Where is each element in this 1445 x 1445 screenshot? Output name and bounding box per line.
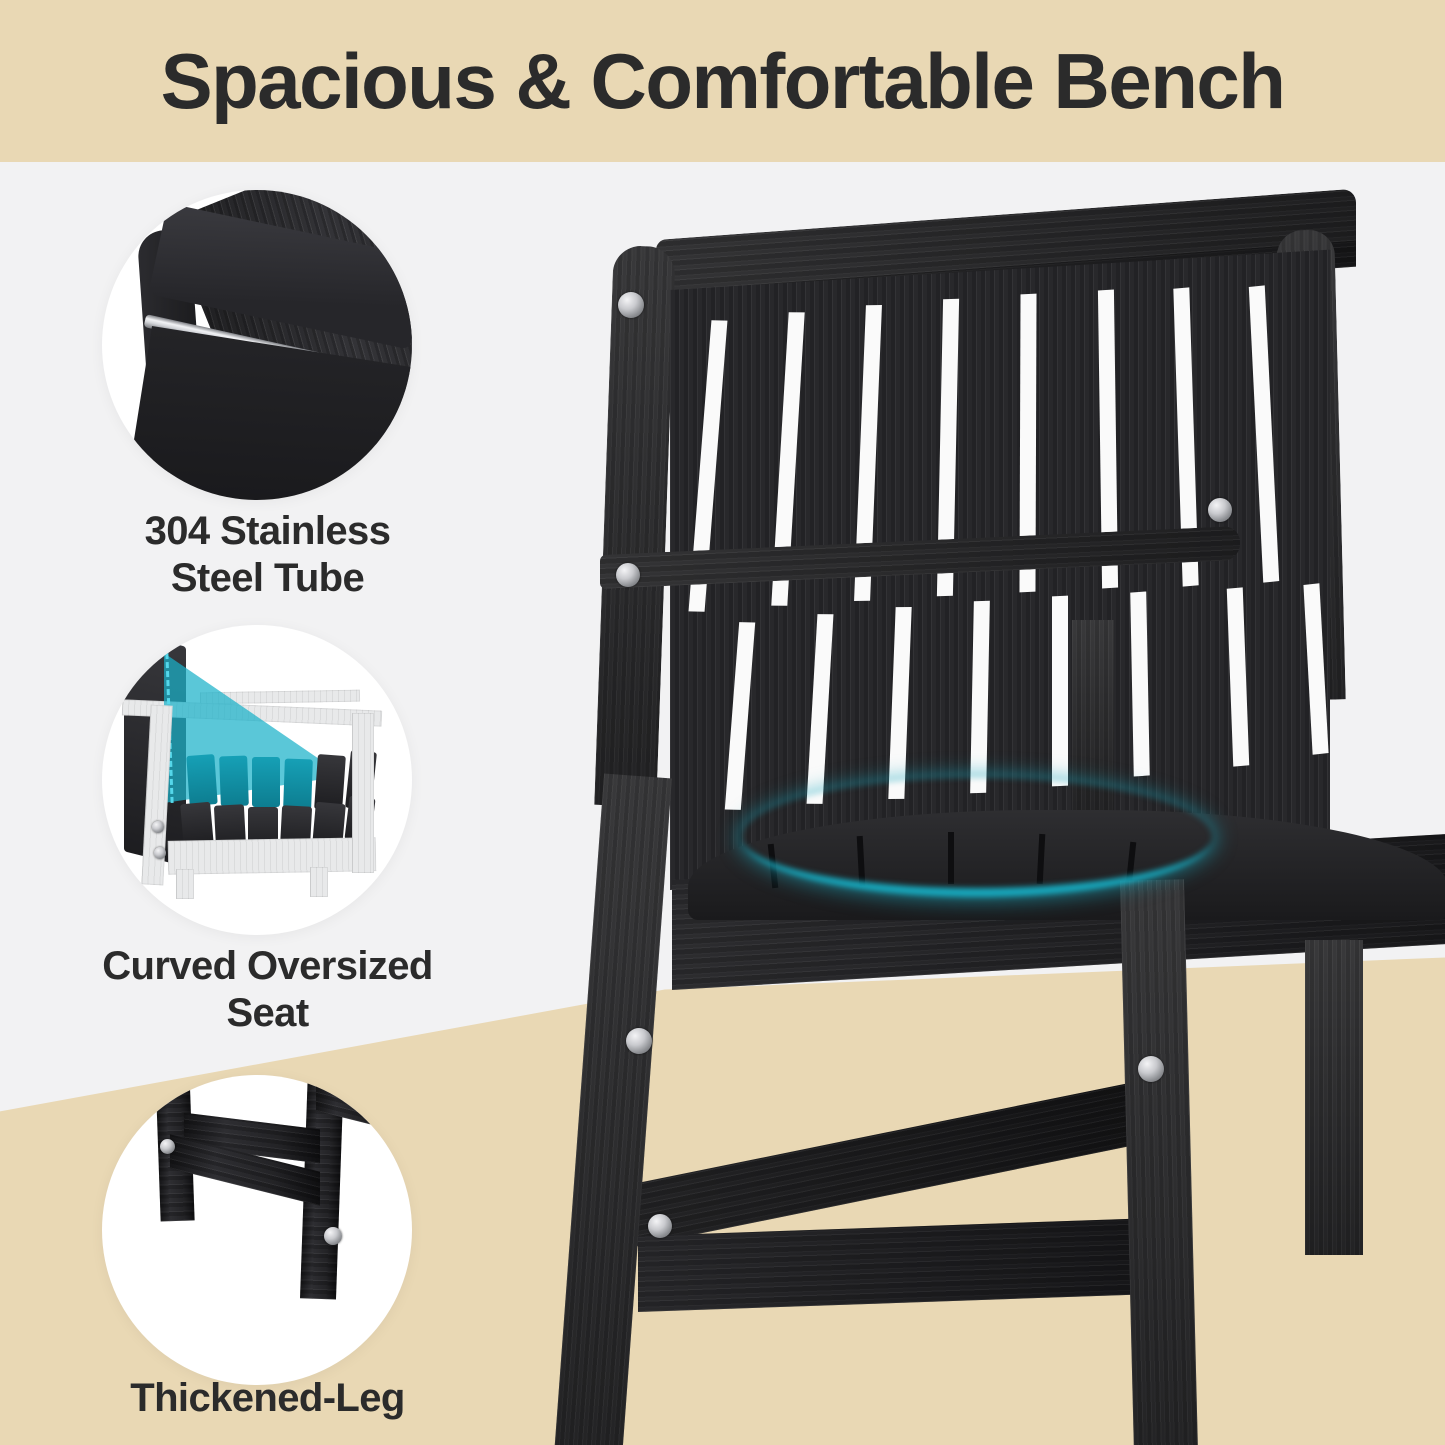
seat-diagram-teal-slat-3 [252, 757, 280, 807]
seat-diagram-front-apron [168, 837, 377, 875]
callout-label-line2: Seat [75, 990, 460, 1037]
callout-label-line1: Curved Oversized [75, 943, 460, 990]
screw-rear-leg-center [1138, 1056, 1164, 1082]
seat-diagram-teal-slat-2 [219, 756, 249, 807]
callout-image-thickened-leg [102, 1075, 412, 1385]
screw-seat-diagram-left-2 [154, 847, 166, 859]
screw-arm-rail-left [616, 563, 640, 587]
product-feature-image: Spacious & Comfortable Bench 304 Stainle… [0, 0, 1445, 1445]
seat-diagram-teal-slat-4 [283, 759, 313, 810]
callout-label-thickened-leg: Thickened-Leg [95, 1375, 440, 1422]
bench-stretcher-horizontal [638, 1218, 1158, 1312]
callout-label-line1: Thickened-Leg [95, 1375, 440, 1422]
bench-product-photo [560, 180, 1445, 1445]
screw-rear-post-left-top [618, 292, 644, 318]
screw-leg-lower-right [324, 1227, 342, 1245]
page-title: Spacious & Comfortable Bench [0, 0, 1445, 162]
screw-front-leg-left-upper [626, 1028, 652, 1054]
callout-curved-oversized-seat: Curved Oversized Seat [95, 625, 440, 1035]
callout-image-curved-oversized-seat [102, 625, 412, 935]
callout-image-stainless-steel-tube [102, 190, 412, 500]
callout-label-curved-oversized-seat: Curved Oversized Seat [75, 943, 460, 1037]
callout-label-stainless-steel-tube: 304 Stainless Steel Tube [95, 508, 440, 602]
screw-leg-upper-left [160, 1139, 175, 1154]
callout-stainless-steel-tube: 304 Stainless Steel Tube [95, 190, 440, 600]
callout-thickened-leg: Thickened-Leg [95, 1075, 440, 1445]
seat-diagram-leg-right [352, 713, 374, 873]
screw-front-leg-left-lower [648, 1214, 672, 1238]
seat-diagram-foot-right [310, 867, 328, 897]
screw-seat-diagram-left [152, 821, 164, 833]
seat-diagram-foot-left [176, 869, 194, 899]
curved-seat-highlight [742, 778, 1212, 897]
header-band: Spacious & Comfortable Bench [0, 0, 1445, 162]
bench-leg-right-far [1305, 940, 1363, 1255]
bench-rear-leg-center [1120, 879, 1199, 1445]
callout-label-line2: Steel Tube [95, 555, 440, 602]
seat-diagram-teal-slat-1 [186, 754, 217, 806]
callout-label-line1: 304 Stainless [95, 508, 440, 555]
screw-arm-rail-right [1208, 498, 1232, 522]
bench-front-leg-left [553, 774, 672, 1445]
bench-rear-post-left [594, 245, 676, 807]
